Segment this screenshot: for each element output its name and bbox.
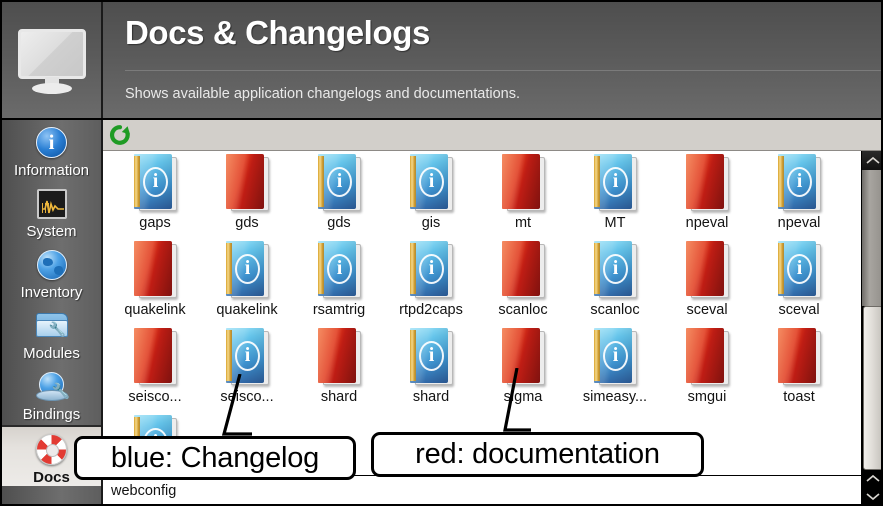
icon-view-item[interactable]: iscanloc xyxy=(569,239,661,326)
sidebar-item-modules[interactable]: 🔧 Modules xyxy=(2,303,101,364)
globe-icon xyxy=(35,248,69,282)
sidebar-item-information[interactable]: Information xyxy=(2,120,101,181)
icon-view-item-label: npeval xyxy=(778,215,821,231)
icon-view-item-label: gds xyxy=(235,215,258,231)
changelog-book-icon: i xyxy=(223,241,271,298)
documentation-book-icon xyxy=(131,241,179,298)
icon-view-item-label: toast xyxy=(783,389,814,405)
icon-view-item-label: npeval xyxy=(686,215,729,231)
scrollbar-stepper-group xyxy=(862,470,883,506)
page-title: Docs & Changelogs xyxy=(125,14,430,52)
icon-view-item[interactable]: mt xyxy=(477,152,569,239)
icon-view-item-label: shard xyxy=(321,389,357,405)
waveform-monitor-icon xyxy=(35,187,69,221)
icon-view-item[interactable]: iquakelink xyxy=(201,239,293,326)
refresh-circular-arrow-icon[interactable] xyxy=(109,124,131,146)
icon-view-item[interactable]: ishard xyxy=(385,326,477,413)
icon-view-item-label: rsamtrig xyxy=(313,302,365,318)
changelog-book-icon: i xyxy=(407,154,455,211)
icon-view-item[interactable]: irsamtrig xyxy=(293,239,385,326)
icon-view-item[interactable]: igds xyxy=(293,152,385,239)
icon-view-item-label: seisco... xyxy=(128,389,181,405)
info-circle-icon xyxy=(35,126,69,160)
scrollbar-thumb[interactable] xyxy=(863,306,883,470)
sidebar-item-label: System xyxy=(26,223,76,240)
page-header: Docs & Changelogs Shows available applic… xyxy=(2,2,883,120)
icon-view-item-label: sceval xyxy=(778,302,819,318)
icon-view-item[interactable]: gds xyxy=(201,152,293,239)
icon-view-item-label: gis xyxy=(422,215,441,231)
documentation-book-icon xyxy=(683,241,731,298)
chevron-up-icon[interactable] xyxy=(862,151,883,170)
folder-wrench-icon: 🔧 xyxy=(35,309,69,343)
page-subtitle: Shows available application changelogs a… xyxy=(125,86,520,102)
callout-text: blue: Changelog xyxy=(111,442,319,475)
toolbar xyxy=(103,120,883,151)
callout-blue-changelog: blue: Changelog xyxy=(74,436,356,480)
icon-view-item-label: quakelink xyxy=(124,302,185,318)
changelog-book-icon: i xyxy=(407,241,455,298)
changelog-book-icon: i xyxy=(775,154,823,211)
icon-view-item-label: scanloc xyxy=(498,302,547,318)
callout-leader-blue xyxy=(218,374,258,440)
monitor-icon xyxy=(18,29,86,91)
changelog-book-icon: i xyxy=(775,241,823,298)
icon-view-item[interactable]: quakelink xyxy=(109,239,201,326)
icon-view-item[interactable]: shard xyxy=(293,326,385,413)
icon-view-item-label: gaps xyxy=(139,215,170,231)
changelog-book-icon: i xyxy=(315,241,363,298)
icon-view-item-label: MT xyxy=(605,215,626,231)
scrollbar-track-above[interactable] xyxy=(862,170,883,306)
changelog-book-icon: i xyxy=(591,154,639,211)
icon-view-item[interactable]: irtpd2caps xyxy=(385,239,477,326)
icon-view-item[interactable]: iMT xyxy=(569,152,661,239)
sidebar-item-system[interactable]: System xyxy=(2,181,101,242)
header-icon-cell xyxy=(2,2,103,118)
sidebar-item-bindings[interactable]: 🔧 Bindings xyxy=(2,364,101,425)
icon-view-item-label: mt xyxy=(515,215,531,231)
icon-view-item[interactable]: sceval xyxy=(661,239,753,326)
documentation-book-icon xyxy=(223,154,271,211)
lifebuoy-icon xyxy=(35,433,69,467)
icon-view-item[interactable]: npeval xyxy=(661,152,753,239)
chevron-down-icon[interactable] xyxy=(866,488,880,506)
icon-view-item-label: gds xyxy=(327,215,350,231)
documentation-book-icon xyxy=(499,241,547,298)
documentation-book-icon xyxy=(683,154,731,211)
sidebar-item-label: Modules xyxy=(23,345,80,362)
changelog-book-icon: i xyxy=(407,328,455,385)
callout-red-documentation: red: documentation xyxy=(371,432,704,477)
application-window: Docs & Changelogs Shows available applic… xyxy=(0,0,883,506)
icon-view-item[interactable]: isceval xyxy=(753,239,845,326)
icon-view-item-label: shard xyxy=(413,389,449,405)
icon-view-item-label: simeasy... xyxy=(583,389,647,405)
icon-view-item[interactable]: smgui xyxy=(661,326,753,413)
vertical-scrollbar[interactable] xyxy=(861,151,883,506)
icon-view-item[interactable]: scanloc xyxy=(477,239,569,326)
header-text: Docs & Changelogs Shows available applic… xyxy=(103,2,883,118)
icon-view-item-label: rtpd2caps xyxy=(399,302,463,318)
changelog-book-icon: i xyxy=(131,154,179,211)
icon-view-item-label: scanloc xyxy=(590,302,639,318)
icon-view-item-label: sceval xyxy=(686,302,727,318)
sidebar-item-label: Inventory xyxy=(21,284,83,301)
sidebar-item-inventory[interactable]: Inventory xyxy=(2,242,101,303)
callout-leader-red xyxy=(497,368,537,436)
icon-view-item[interactable]: inpeval xyxy=(753,152,845,239)
header-divider xyxy=(125,70,883,71)
sidebar-item-label: Information xyxy=(14,162,89,179)
chevron-up-icon[interactable] xyxy=(866,470,880,488)
documentation-book-icon xyxy=(775,328,823,385)
icon-view-item[interactable]: isimeasy... xyxy=(569,326,661,413)
icon-view-item-label: smgui xyxy=(688,389,727,405)
changelog-book-icon: i xyxy=(591,328,639,385)
callout-text: red: documentation xyxy=(415,438,660,471)
icon-view-item-label: quakelink xyxy=(216,302,277,318)
status-text: webconfig xyxy=(111,483,176,499)
icon-view-item[interactable]: igaps xyxy=(109,152,201,239)
documentation-book-icon xyxy=(683,328,731,385)
icon-view-item[interactable]: toast xyxy=(753,326,845,413)
icon-view-item[interactable]: igis xyxy=(385,152,477,239)
sidebar-item-label: Bindings xyxy=(23,406,81,423)
documentation-book-icon xyxy=(499,154,547,211)
changelog-book-icon: i xyxy=(591,241,639,298)
documentation-book-icon xyxy=(131,328,179,385)
documentation-book-icon xyxy=(315,328,363,385)
icon-view-item[interactable]: seisco... xyxy=(109,326,201,413)
globe-wrench-icon: 🔧 xyxy=(35,370,69,404)
sidebar-item-label: Docs xyxy=(33,469,70,486)
changelog-book-icon: i xyxy=(315,154,363,211)
